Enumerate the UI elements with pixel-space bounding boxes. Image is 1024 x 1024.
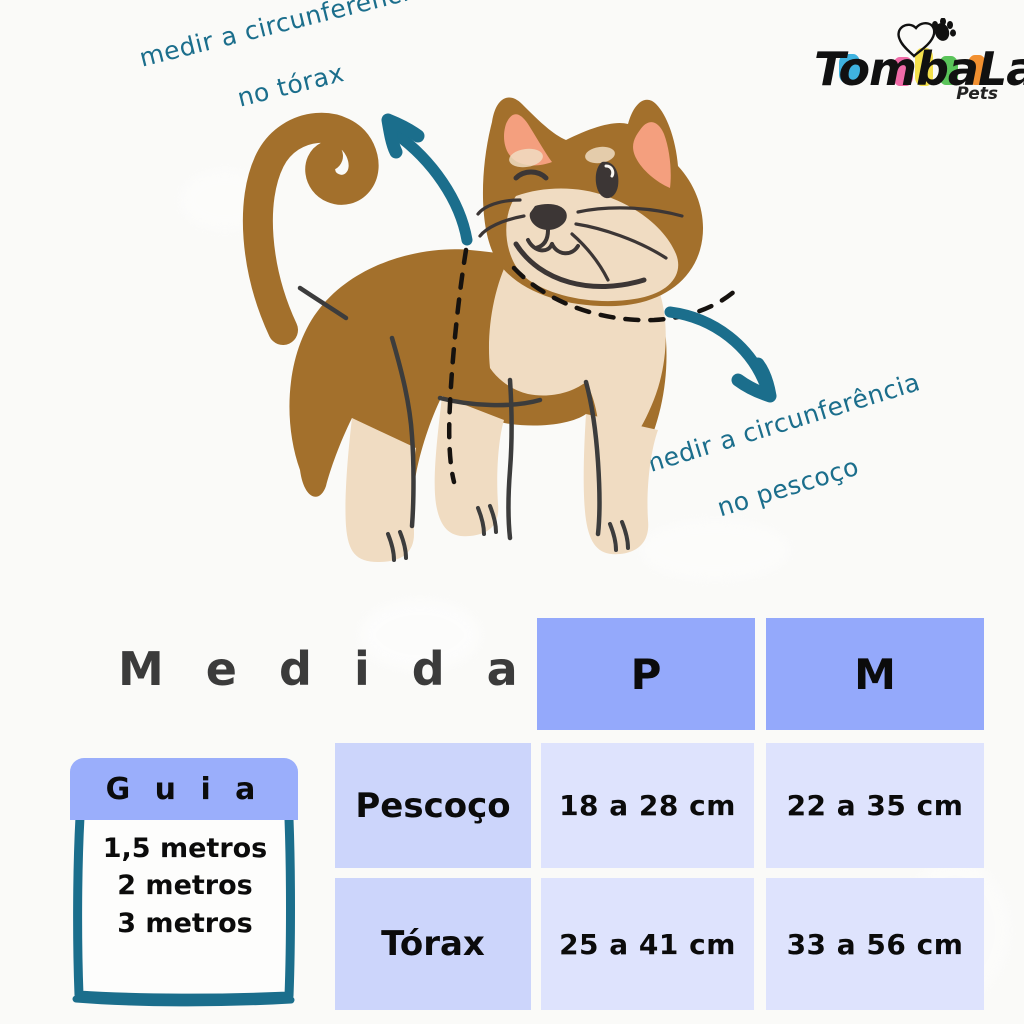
arrow-torax-icon [388, 120, 467, 240]
guia-option[interactable]: 1,5 metros [80, 830, 290, 867]
table-row-label-pescoco: Pescoço [335, 743, 531, 868]
table-header-p: P [537, 618, 755, 730]
guia-box: G u i a 1,5 metros 2 metros 3 metros [70, 758, 298, 1010]
cat-head [478, 98, 703, 307]
table-cell-pescoco-m: 22 a 35 cm [766, 743, 984, 868]
logo-subtitle: Pets [956, 84, 998, 104]
table-cell-torax-p: 25 a 41 cm [541, 878, 754, 1010]
guia-options-list: 1,5 metros 2 metros 3 metros [80, 830, 290, 942]
guia-option[interactable]: 3 metros [80, 905, 290, 942]
table-cell-pescoco-p: 18 a 28 cm [541, 743, 754, 868]
table-header-m: M [766, 618, 984, 730]
table-row-label-torax: Tórax [335, 878, 531, 1010]
guia-header: G u i a [70, 758, 298, 820]
arrow-pescoco-icon [670, 312, 770, 396]
page-title: M e d i d a s [118, 642, 600, 696]
measures-section: M e d i d a s P M Pescoço 18 a 28 cm 22 … [0, 600, 1024, 1024]
table-cell-torax-m: 33 a 56 cm [766, 878, 984, 1010]
guia-option[interactable]: 2 metros [80, 867, 290, 904]
